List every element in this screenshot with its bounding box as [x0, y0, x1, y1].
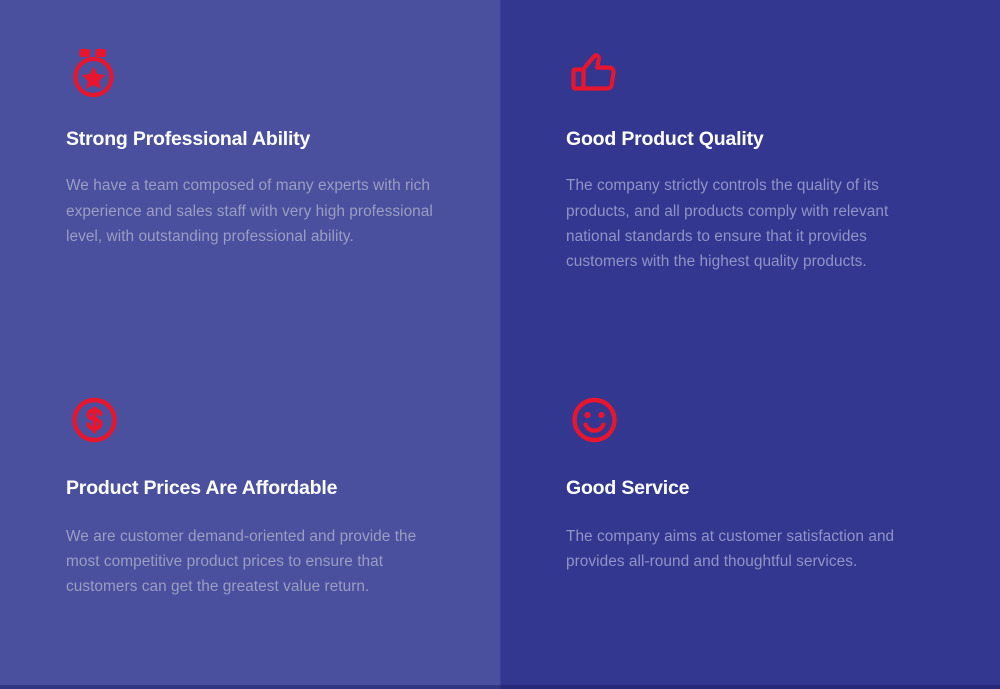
- feature-title: Good Service: [566, 477, 934, 500]
- medal-icon: [66, 44, 124, 102]
- feature-description: We have a team composed of many experts …: [66, 173, 434, 249]
- feature-description: The company aims at customer satisfactio…: [566, 524, 934, 575]
- dollar-circle-icon: [66, 391, 124, 449]
- features-column-right: Good Product Quality The company strictl…: [500, 0, 1000, 689]
- feature-title: Product Prices Are Affordable: [66, 477, 434, 500]
- feature-card-good-product-quality: Good Product Quality The company strictl…: [500, 0, 1000, 345]
- feature-description: The company strictly controls the qualit…: [566, 173, 934, 274]
- thumbs-up-icon: [566, 44, 624, 102]
- features-column-left: Strong Professional Ability We have a te…: [0, 0, 500, 689]
- feature-card-strong-professional-ability: Strong Professional Ability We have a te…: [0, 0, 500, 345]
- feature-card-product-prices-are-affordable: Product Prices Are Affordable We are cus…: [0, 345, 500, 689]
- feature-title: Strong Professional Ability: [66, 128, 434, 151]
- smiley-face-icon: [566, 391, 624, 449]
- feature-title: Good Product Quality: [566, 128, 934, 151]
- feature-description: We are customer demand-oriented and prov…: [66, 524, 434, 600]
- features-section: Strong Professional Ability We have a te…: [0, 0, 1000, 689]
- feature-card-good-service: Good Service The company aims at custome…: [500, 345, 1000, 689]
